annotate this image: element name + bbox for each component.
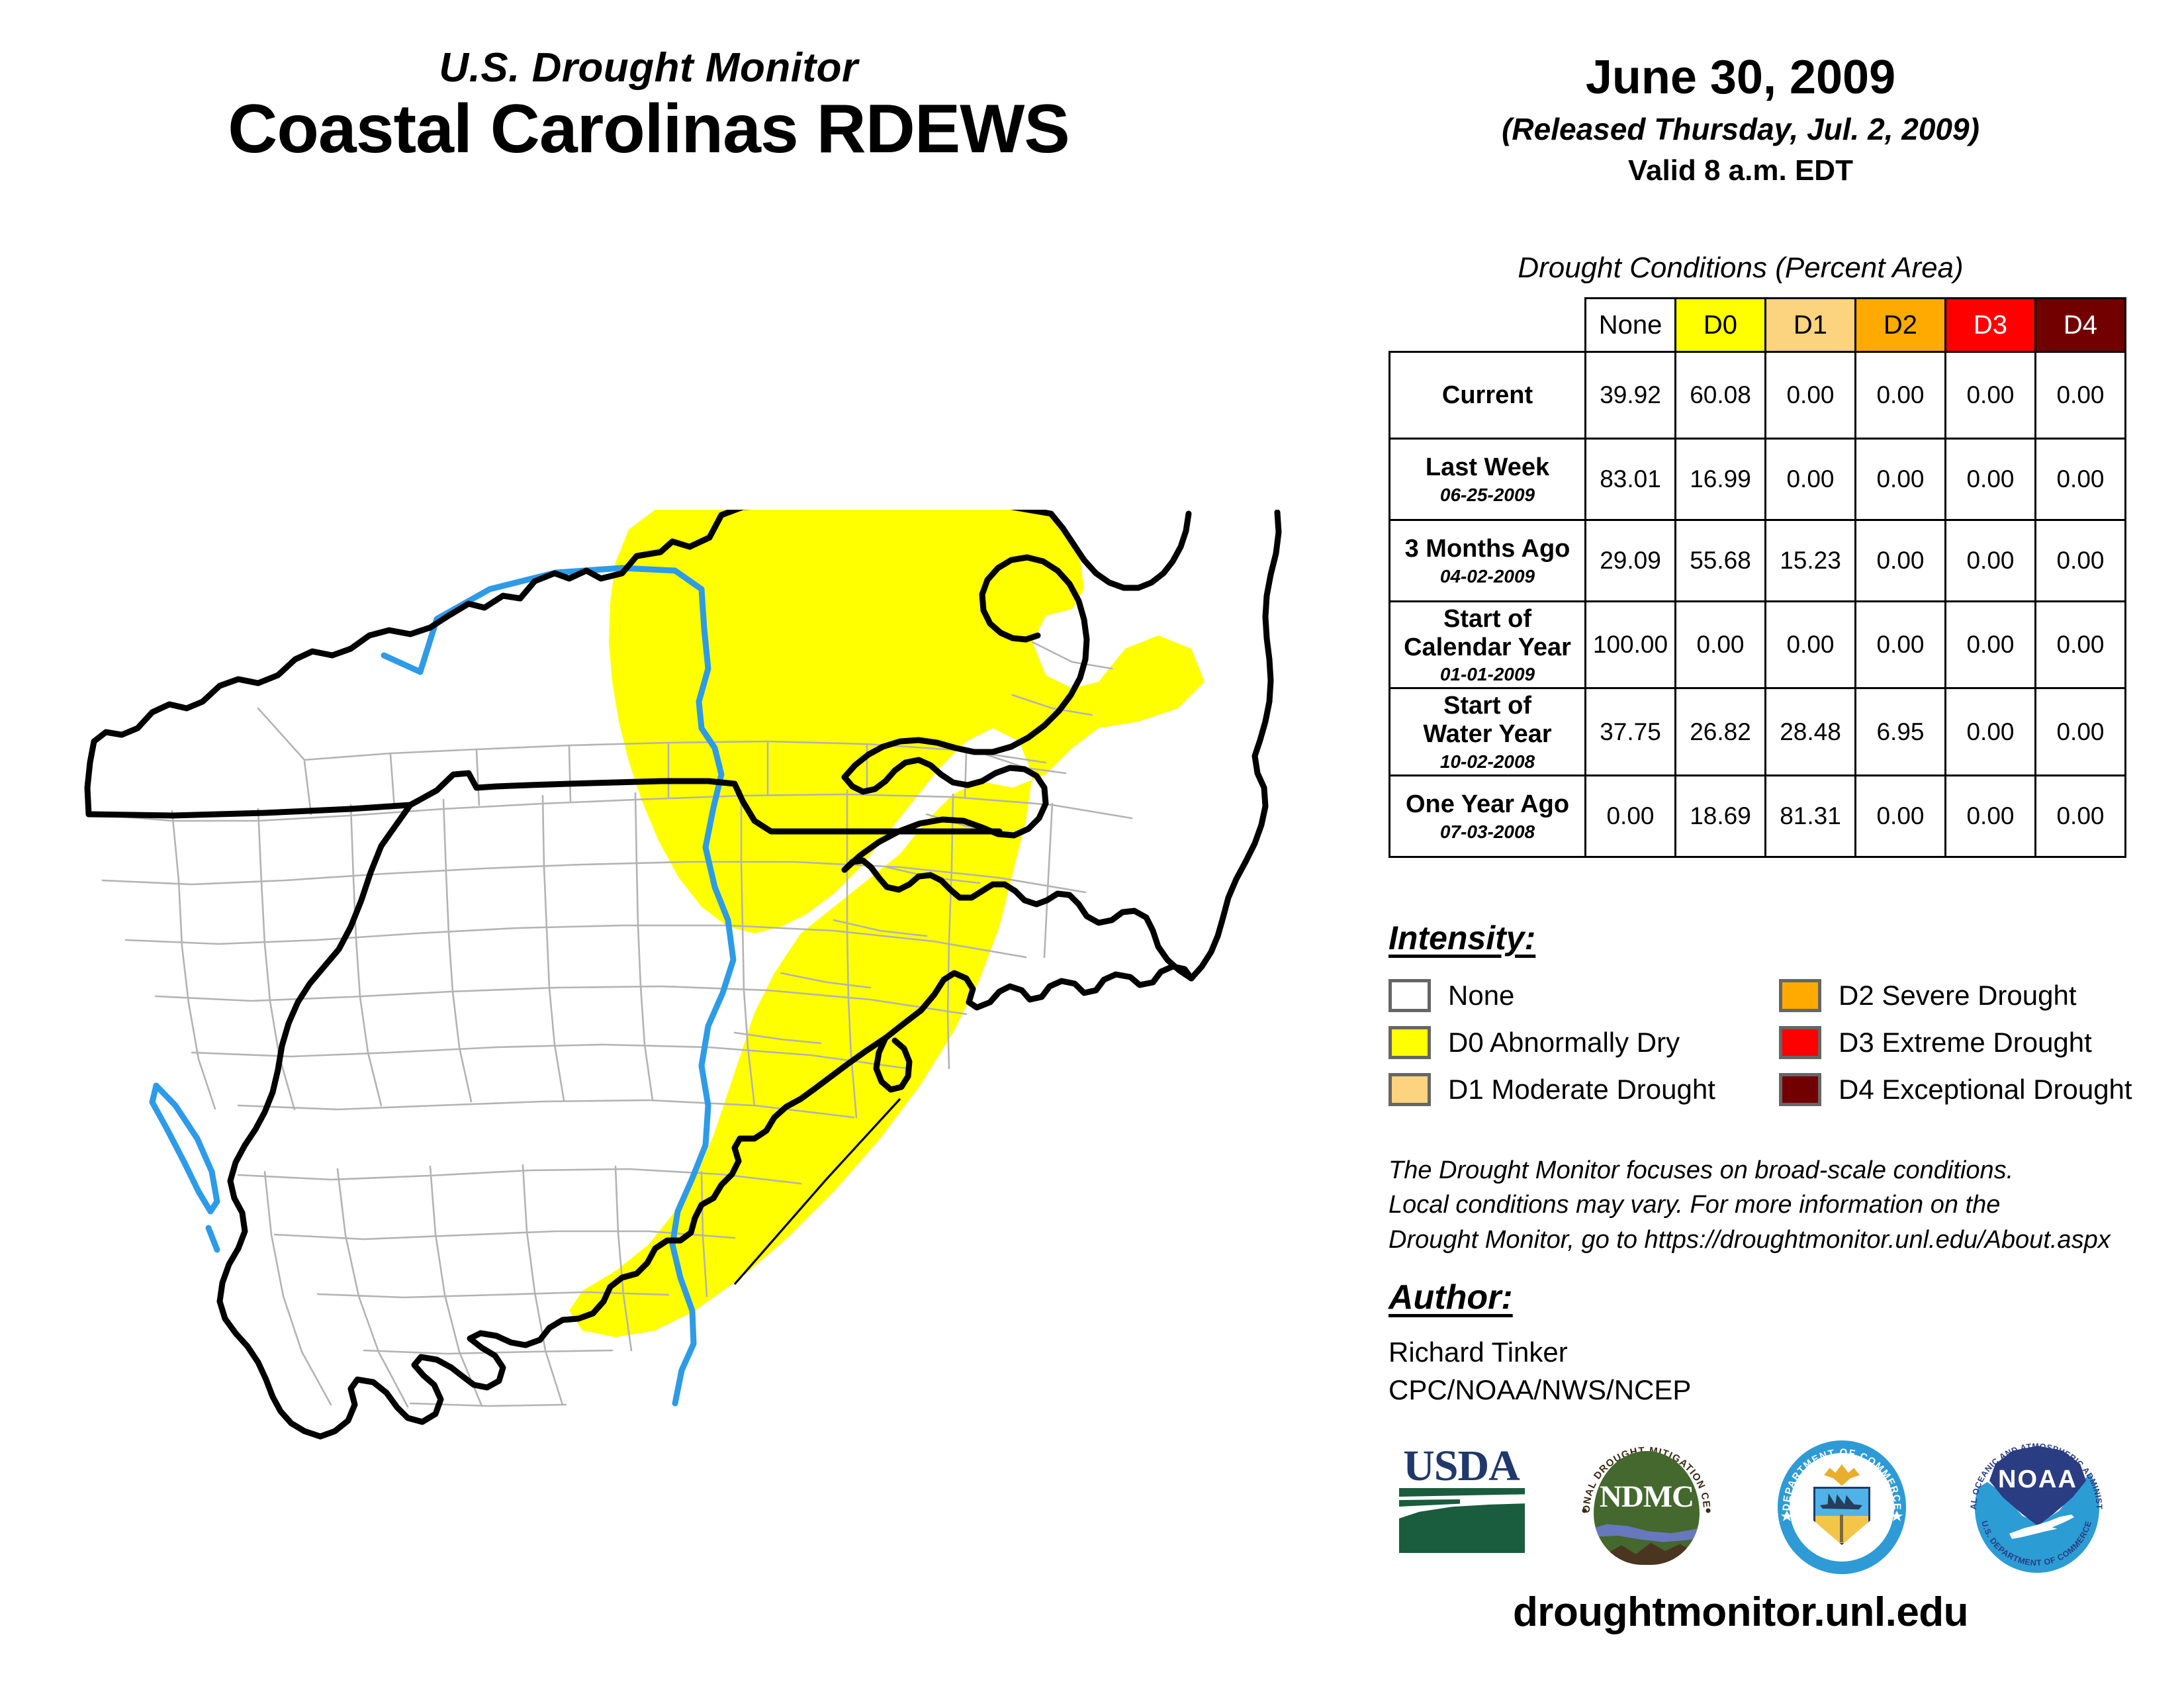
row-label-line1: Start of (1443, 692, 1531, 720)
cell-1yr-d3: 0.00 (1946, 775, 2036, 857)
legend-label-d4: D4 Exceptional Drought (1839, 1074, 2132, 1105)
disclaimer-line-1: The Drought Monitor focuses on broad-sca… (1388, 1153, 2169, 1188)
row-label-line2: Calendar Year (1404, 633, 1571, 661)
legend-swatch-d1-icon (1388, 1073, 1431, 1106)
cell-lastweek-d2: 0.00 (1856, 439, 1946, 520)
drought-map (40, 510, 1297, 1450)
svg-text:DEPARTMENT OF COMMERCE: DEPARTMENT OF COMMERCE (1781, 1447, 1903, 1511)
intensity-heading: Intensity: (1388, 919, 1535, 957)
legend-label-d2: D2 Severe Drought (1839, 980, 2077, 1011)
ndmc-acronym: NDMC (1594, 1481, 1700, 1513)
table-row: Start of Water Year 10-02-2008 37.75 26.… (1390, 688, 2126, 775)
released-date: (Released Thursday, Jul. 2, 2009) (1297, 113, 2184, 146)
valid-date: June 30, 2009 (1297, 53, 2184, 103)
cell-current-d0: 60.08 (1676, 352, 1766, 439)
legend-item-d4: D4 Exceptional Drought (1779, 1066, 2150, 1113)
row-label-one-year-ago: One Year Ago 07-03-2008 (1390, 775, 1586, 857)
table-row: Start of Calendar Year 01-01-2009 100.00… (1390, 602, 2126, 688)
cell-cy-d2: 0.00 (1856, 602, 1946, 688)
usda-stripe-icon (1399, 1499, 1460, 1507)
logo-row: USDA NATIONAL DROUGHT MITIGATION CENTER … (1383, 1436, 2131, 1589)
doc-seal-icon: DEPARTMENT OF COMMERCE UNITED STATES OF … (1772, 1436, 1911, 1579)
row-label-line2: Water Year (1423, 720, 1551, 748)
legend-item-d2: D2 Severe Drought (1779, 972, 2150, 1019)
cell-wy-d4: 0.00 (2036, 688, 2126, 775)
title-block: U.S. Drought Monitor Coastal Carolinas R… (0, 46, 1297, 165)
table-row: Current 39.92 60.08 0.00 0.00 0.00 0.00 (1390, 352, 2126, 439)
legend-swatch-d3-icon (1779, 1026, 1821, 1059)
cell-3mo-none: 29.09 (1586, 520, 1676, 602)
col-header-d2: D2 (1856, 299, 1946, 352)
doc-ring-text: DEPARTMENT OF COMMERCE UNITED STATES OF … (1772, 1436, 1911, 1579)
disclaimer-line-3: Drought Monitor, go to https://droughtmo… (1388, 1223, 2169, 1257)
program-title: U.S. Drought Monitor (0, 46, 1297, 89)
col-header-d4: D4 (2036, 299, 2126, 352)
row-label-date: 01-01-2009 (1394, 664, 1580, 684)
legend-label-d3: D3 Extreme Drought (1839, 1027, 2092, 1058)
cell-current-none: 39.92 (1586, 352, 1676, 439)
row-label-line1: Start of (1443, 605, 1531, 633)
cell-lastweek-none: 83.01 (1586, 439, 1676, 520)
cell-current-d3: 0.00 (1946, 352, 2036, 439)
cell-cy-d4: 0.00 (2036, 602, 2126, 688)
table-row: One Year Ago 07-03-2008 0.00 18.69 81.31… (1390, 775, 2126, 857)
legend-item-none: None (1388, 972, 1759, 1019)
cell-cy-d3: 0.00 (1946, 602, 2036, 688)
col-header-d1: D1 (1766, 299, 1856, 352)
cell-1yr-d4: 0.00 (2036, 775, 2126, 857)
col-header-none: None (1586, 299, 1676, 352)
table-caption: Drought Conditions (Percent Area) (1297, 252, 2184, 285)
cell-lastweek-d1: 0.00 (1766, 439, 1856, 520)
cell-current-d1: 0.00 (1766, 352, 1856, 439)
author-heading: Author: (1388, 1278, 1513, 1317)
legend-swatch-d4-icon (1779, 1073, 1821, 1106)
legend-label-none: None (1448, 980, 1514, 1011)
valid-time: Valid 8 a.m. EDT (1297, 155, 2184, 187)
legend-item-d0: D0 Abnormally Dry (1388, 1019, 1759, 1066)
cell-cy-d1: 0.00 (1766, 602, 1856, 688)
row-label-date: 04-02-2009 (1394, 566, 1580, 586)
usda-wordmark: USDA (1388, 1444, 1534, 1488)
row-label-start-calendar-year: Start of Calendar Year 01-01-2009 (1390, 602, 1586, 688)
cell-current-d2: 0.00 (1856, 352, 1946, 439)
author-affiliation: CPC/NOAA/NWS/NCEP (1388, 1372, 1691, 1409)
cell-1yr-d1: 81.31 (1766, 775, 1856, 857)
row-label-start-water-year: Start of Water Year 10-02-2008 (1390, 688, 1586, 775)
cell-wy-d0: 26.82 (1676, 688, 1766, 775)
cell-3mo-d4: 0.00 (2036, 520, 2126, 602)
legend-swatch-none-icon (1388, 979, 1431, 1012)
row-label-current: Current (1390, 352, 1586, 439)
table-header-row: None D0 D1 D2 D3 D4 (1390, 299, 2126, 352)
usda-logo-icon: USDA (1388, 1436, 1534, 1575)
cell-lastweek-d4: 0.00 (2036, 439, 2126, 520)
row-label-text: One Year Ago (1406, 790, 1569, 818)
date-block: June 30, 2009 (Released Thursday, Jul. 2… (1297, 53, 2184, 187)
row-label-date: 07-03-2008 (1394, 821, 1580, 842)
ndmc-wave-icon (1594, 1523, 1700, 1544)
cell-lastweek-d0: 16.99 (1676, 439, 1766, 520)
svg-text:NATIONAL OCEANIC AND ATMOSPHER: NATIONAL OCEANIC AND ATMOSPHERIC ADMINIS… (1966, 1436, 2104, 1510)
cell-1yr-d2: 0.00 (1856, 775, 1946, 857)
author-block: Richard Tinker CPC/NOAA/NWS/NCEP (1388, 1334, 1691, 1409)
legend-item-d1: D1 Moderate Drought (1388, 1066, 1759, 1113)
cell-3mo-d2: 0.00 (1856, 520, 1946, 602)
legend-label-d0: D0 Abnormally Dry (1448, 1027, 1680, 1058)
legend-label-d1: D1 Moderate Drought (1448, 1074, 1715, 1105)
cell-lastweek-d3: 0.00 (1946, 439, 2036, 520)
intensity-legend: None D2 Severe Drought D0 Abnormally Dry… (1388, 972, 2150, 1113)
cell-wy-d1: 28.48 (1766, 688, 1856, 775)
row-label-3-months-ago: 3 Months Ago 04-02-2009 (1390, 520, 1586, 602)
map-svg (40, 510, 1297, 1450)
drought-conditions-table: None D0 D1 D2 D3 D4 Current 39.92 60.08 … (1388, 297, 2126, 858)
col-header-d0: D0 (1676, 299, 1766, 352)
legend-item-d3: D3 Extreme Drought (1779, 1019, 2150, 1066)
svg-text:U.S. DEPARTMENT OF COMMERCE: U.S. DEPARTMENT OF COMMERCE (1979, 1520, 2093, 1568)
region-title: Coastal Carolinas RDEWS (0, 93, 1297, 165)
cell-current-d4: 0.00 (2036, 352, 2126, 439)
noaa-logo-icon: NOAA NATIONAL OCEANIC AND ATMOSPHERIC AD… (1966, 1436, 2108, 1579)
col-header-d3: D3 (1946, 299, 2036, 352)
row-label-text: 3 Months Ago (1405, 535, 1570, 563)
cell-1yr-d0: 18.69 (1676, 775, 1766, 857)
cell-wy-d2: 6.95 (1856, 688, 1946, 775)
cell-1yr-none: 0.00 (1586, 775, 1676, 857)
usda-stripe-icon (1399, 1488, 1525, 1497)
noaa-ring-text: NATIONAL OCEANIC AND ATMOSPHERIC ADMINIS… (1966, 1436, 2108, 1579)
cell-3mo-d3: 0.00 (1946, 520, 2036, 602)
legend-swatch-d2-icon (1779, 979, 1821, 1012)
footer-url: droughtmonitor.unl.edu (1297, 1589, 2184, 1636)
row-label-date: 10-02-2008 (1394, 751, 1580, 772)
cell-cy-none: 100.00 (1586, 602, 1676, 688)
row-label-text: Current (1442, 381, 1533, 409)
disclaimer-text: The Drought Monitor focuses on broad-sca… (1388, 1153, 2169, 1257)
table-corner-cell (1390, 299, 1586, 352)
legend-swatch-d0-icon (1388, 1026, 1431, 1059)
disclaimer-line-2: Local conditions may vary. For more info… (1388, 1188, 2169, 1222)
row-label-text: Last Week (1426, 453, 1549, 481)
table-row: Last Week 06-25-2009 83.01 16.99 0.00 0.… (1390, 439, 2126, 520)
cell-wy-none: 37.75 (1586, 688, 1676, 775)
table-row: 3 Months Ago 04-02-2009 29.09 55.68 15.2… (1390, 520, 2126, 602)
cell-cy-d0: 0.00 (1676, 602, 1766, 688)
ndmc-logo-icon: NATIONAL DROUGHT MITIGATION CENTER UNIVE… (1575, 1436, 1717, 1579)
cell-3mo-d0: 55.68 (1676, 520, 1766, 602)
row-label-last-week: Last Week 06-25-2009 (1390, 439, 1586, 520)
cell-3mo-d1: 15.23 (1766, 520, 1856, 602)
cell-wy-d3: 0.00 (1946, 688, 2036, 775)
author-name: Richard Tinker (1388, 1334, 1691, 1372)
row-label-date: 06-25-2009 (1394, 485, 1580, 505)
